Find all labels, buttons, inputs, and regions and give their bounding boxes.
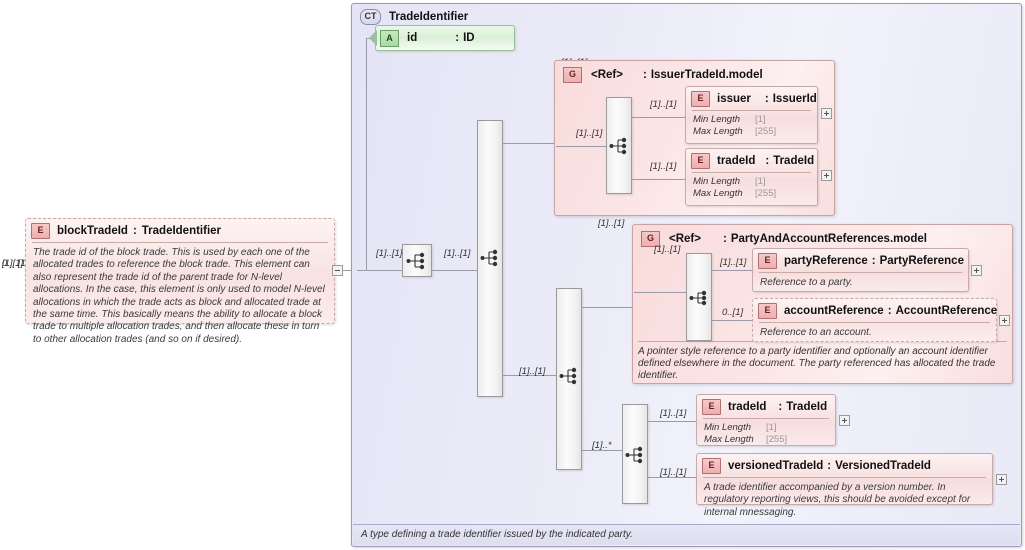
element-blockTradeId-name: blockTradeId <box>57 225 128 237</box>
separator: : <box>643 69 647 81</box>
facet-key-min-length: Min Length <box>704 422 766 434</box>
element-accountReference[interactable]: E accountReference : AccountReference Re… <box>752 298 997 342</box>
cardinality-versionedTradeId: [1]..[1] <box>660 467 686 478</box>
facet-key-min-length: Min Length <box>693 114 755 126</box>
element-issuer-type: IssuerId <box>773 93 817 105</box>
element-partyReference-doc: Reference to a party. <box>753 273 968 293</box>
expand-plus-icon-issuer[interactable] <box>821 108 832 119</box>
separator: : <box>765 93 769 105</box>
sequence-compositor-outer[interactable] <box>477 120 503 397</box>
attribute-badge-icon: A <box>380 30 399 47</box>
element-badge-icon: E <box>31 223 50 239</box>
element-tradeId-bottom-name: tradeId <box>728 401 766 413</box>
connector-line <box>632 179 685 180</box>
separator: : <box>765 155 769 167</box>
cardinality-issuer: [1]..[1] <box>650 99 676 110</box>
element-blockTradeId-doc: The trade id of the block trade. This is… <box>26 243 334 350</box>
facet-value-min-length: [1] <box>755 114 766 126</box>
facet-row: Min Length [1] <box>693 176 810 188</box>
facet-row: Min Length [1] <box>693 114 810 126</box>
separator: : <box>872 255 876 267</box>
separator: : <box>827 460 831 472</box>
element-tradeId-bottom-facets: Min Length [1] Max Length [255] <box>697 419 835 449</box>
element-issuer-name: issuer <box>717 93 751 105</box>
element-tradeId-name: tradeId <box>717 155 755 167</box>
attribute-id-type: ID <box>463 32 475 44</box>
group-header: G <Ref> : IssuerTradeId.model <box>563 67 763 83</box>
element-versionedTradeId-type: VersionedTradeId <box>835 460 931 472</box>
complextype-footer-doc: A type defining a trade identifier issue… <box>353 524 1020 545</box>
group-documentation: A pointer style reference to a party ide… <box>638 341 1007 383</box>
cardinality-issuer-group-inner: [1]..[1] <box>576 128 602 139</box>
facet-key-min-length: Min Length <box>693 176 755 188</box>
separator: : <box>133 225 137 237</box>
element-accountReference-doc: Reference to an account. <box>753 323 996 343</box>
element-badge-icon: E <box>758 303 777 319</box>
element-partyReference-name: partyReference <box>784 255 868 267</box>
facet-value-max-length: [255] <box>766 434 787 446</box>
connector-line <box>712 270 752 271</box>
cardinality-accountReference: 0..[1] <box>722 307 743 318</box>
sequence-compositor-bottom[interactable] <box>622 404 648 504</box>
facet-key-max-length: Max Length <box>693 126 755 138</box>
element-badge-icon: E <box>691 91 710 107</box>
connector-line <box>648 421 696 422</box>
group-ref-label: <Ref> <box>591 69 623 81</box>
separator: : <box>455 32 459 44</box>
element-tradeId-type: TradeId <box>773 155 814 167</box>
attribute-id-name: id <box>407 32 417 44</box>
element-issuer-header: E issuer : IssuerId <box>686 87 817 110</box>
element-tradeId-bottom[interactable]: E tradeId : TradeId Min Length [1] Max L… <box>696 394 836 446</box>
cardinality-root-element: 0..[1] <box>2 258 23 269</box>
cardinality-to-outer-sequence: [1]..[1] <box>444 248 470 259</box>
cardinality-party-group: [1]..[1] <box>598 218 624 229</box>
connector-line <box>357 270 402 271</box>
group-badge-icon: G <box>563 67 582 83</box>
facet-row: Max Length [255] <box>693 126 810 138</box>
cardinality-party-inner: [1]..[1] <box>654 244 680 255</box>
facet-key-max-length: Max Length <box>693 188 755 200</box>
connector-line <box>582 307 634 308</box>
facet-row: Max Length [255] <box>693 188 810 200</box>
group-header: G <Ref> : PartyAndAccountReferences.mode… <box>641 231 927 247</box>
facet-value-max-length: [255] <box>755 188 776 200</box>
cardinality-tradeId-group: [1]..[1] <box>650 161 676 172</box>
facet-value-max-length: [255] <box>755 126 776 138</box>
facet-value-min-length: [1] <box>766 422 777 434</box>
connector-line <box>632 117 685 118</box>
group-name-PartyAndAccountReferences: PartyAndAccountReferences.model <box>731 233 927 245</box>
separator: : <box>888 305 892 317</box>
sequence-icon <box>625 445 647 465</box>
element-versionedTradeId[interactable]: E versionedTradeId : VersionedTradeId A … <box>696 453 993 505</box>
facet-key-max-length: Max Length <box>704 434 766 446</box>
element-badge-icon: E <box>758 253 777 269</box>
sequence-compositor-issuer-group[interactable] <box>606 97 632 194</box>
connector-line <box>366 38 367 270</box>
cardinality-inner-seq-bottom: [1]..* <box>592 440 612 451</box>
separator: : <box>778 401 782 413</box>
element-versionedTradeId-name: versionedTradeId <box>728 460 823 472</box>
facet-row: Max Length [255] <box>704 434 828 446</box>
element-partyReference-header: E partyReference : PartyReference <box>753 249 968 272</box>
sequence-icon <box>480 248 502 268</box>
cardinality-to-root-sequence: [1]..[1] <box>376 248 402 259</box>
sequence-icon <box>406 251 428 271</box>
element-issuer-facets: Min Length [1] Max Length [255] <box>686 111 817 141</box>
connector-line <box>432 270 477 271</box>
facet-row: Min Length [1] <box>704 422 828 434</box>
expand-plus-icon-accountReference[interactable] <box>999 315 1010 326</box>
expand-plus-icon-tradeId-group[interactable] <box>821 170 832 181</box>
cardinality-partyReference: [1]..[1] <box>720 257 746 268</box>
element-versionedTradeId-doc: A trade identifier accompanied by a vers… <box>697 478 992 523</box>
complextype-header: CT TradeIdentifier <box>360 9 468 25</box>
element-accountReference-type: AccountReference <box>896 305 998 317</box>
element-tradeId-facets: Min Length [1] Max Length [255] <box>686 173 817 203</box>
sequence-compositor-root[interactable] <box>402 244 432 277</box>
element-tradeId-bottom-header: E tradeId : TradeId <box>697 395 835 418</box>
sequence-compositor-party-group[interactable] <box>686 253 712 341</box>
element-partyReference[interactable]: E partyReference : PartyReference Refere… <box>752 248 969 292</box>
element-partyReference-type: PartyReference <box>880 255 964 267</box>
element-versionedTradeId-header: E versionedTradeId : VersionedTradeId <box>697 454 992 477</box>
connector-line <box>712 320 752 321</box>
expand-plus-icon-partyReference[interactable] <box>971 265 982 276</box>
separator: : <box>723 233 727 245</box>
element-badge-icon: E <box>702 458 721 474</box>
expand-plus-icon-versionedTradeId[interactable] <box>996 474 1007 485</box>
element-blockTradeId[interactable]: E blockTradeId : TradeIdentifier The tra… <box>25 218 335 324</box>
element-accountReference-header: E accountReference : AccountReference <box>753 299 996 322</box>
element-badge-icon: E <box>702 399 721 415</box>
connector-line <box>634 292 686 293</box>
connector-line <box>556 146 606 147</box>
cardinality-tradeId-bottom: [1]..[1] <box>660 408 686 419</box>
element-tradeId-in-group[interactable]: E tradeId : TradeId Min Length [1] Max L… <box>685 148 818 206</box>
element-tradeId-bottom-type: TradeId <box>786 401 827 413</box>
sequence-icon <box>689 288 711 308</box>
expand-plus-icon-tradeId-bottom[interactable] <box>839 415 850 426</box>
cardinality-inner-sequence: [1]..[1] <box>519 366 545 377</box>
element-accountReference-name: accountReference <box>784 305 884 317</box>
sequence-icon <box>609 136 631 156</box>
complextype-title: TradeIdentifier <box>389 11 468 23</box>
group-name-IssuerTradeId: IssuerTradeId.model <box>651 69 763 81</box>
attribute-pointer-icon <box>369 30 377 46</box>
element-badge-icon: E <box>691 153 710 169</box>
facet-value-min-length: [1] <box>755 176 766 188</box>
collapse-minus-icon-blockTradeId[interactable] <box>332 265 343 276</box>
sequence-compositor-inner[interactable] <box>556 288 582 470</box>
element-tradeId-header: E tradeId : TradeId <box>686 149 817 172</box>
complextype-badge-icon: CT <box>360 9 381 25</box>
element-issuer[interactable]: E issuer : IssuerId Min Length [1] Max L… <box>685 86 818 144</box>
element-blockTradeId-header: E blockTradeId : TradeIdentifier <box>26 219 334 242</box>
attribute-id[interactable]: A id : ID <box>375 25 515 51</box>
sequence-icon <box>559 366 581 386</box>
connector-line <box>503 143 556 144</box>
element-blockTradeId-type: TradeIdentifier <box>142 225 221 237</box>
